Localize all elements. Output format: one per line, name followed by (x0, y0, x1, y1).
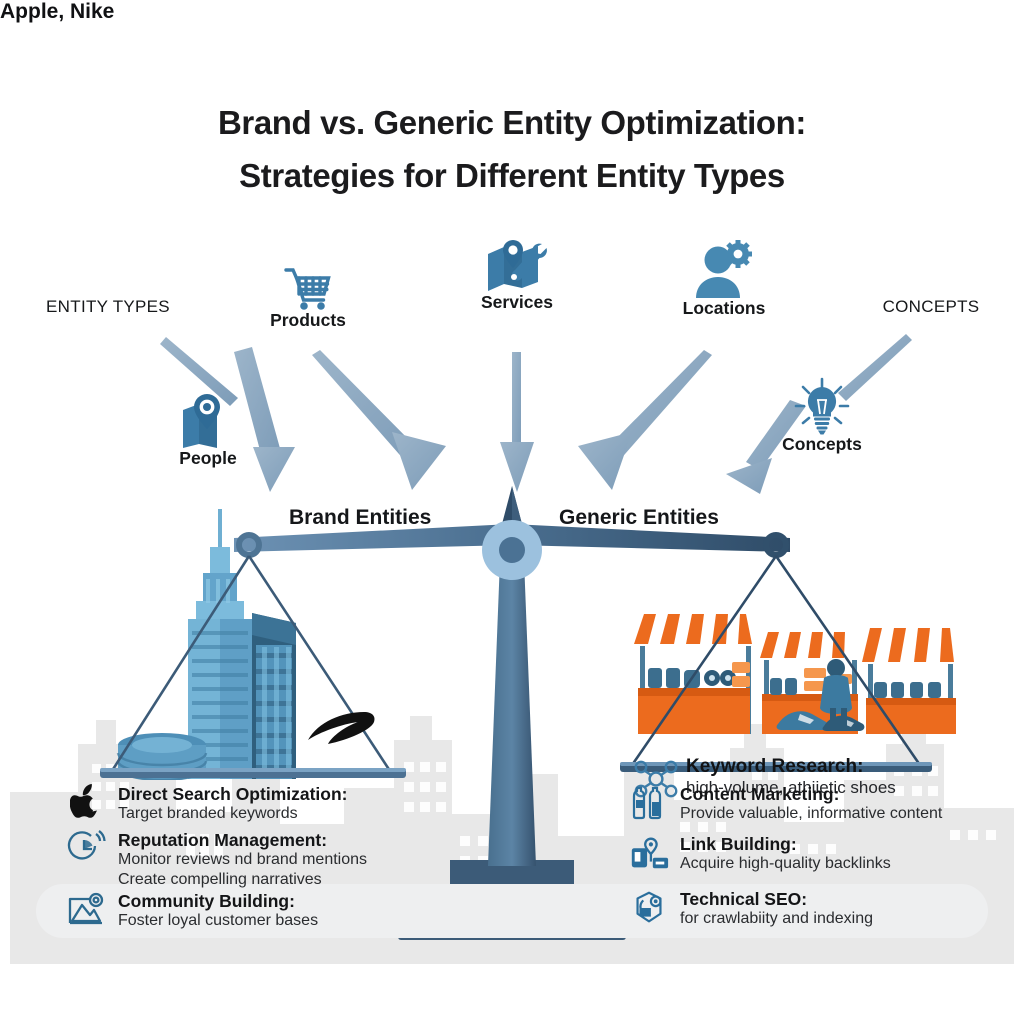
right-pan-strings (630, 556, 922, 768)
left-pan (100, 768, 406, 778)
community-image-icon (66, 890, 108, 930)
brand-entities-label: Brand Entities (289, 506, 431, 530)
strategy-desc: Monitor reviews nd brand mentions (118, 850, 367, 870)
bottles-content-icon (628, 783, 670, 823)
infographic-canvas: Brand vs. Generic Entity Optimization: S… (0, 0, 1024, 1024)
strategy-reputation-management[interactable]: Reputation Management: Monitor reviews n… (66, 829, 367, 890)
reputation-clock-icon (66, 829, 108, 869)
strategy-title: Reputation Management: (118, 830, 367, 850)
strategy-desc-2: Create compelling narratives (118, 870, 367, 890)
link-pin-icon (628, 833, 670, 873)
strategy-desc: Foster loyal customer bases (118, 911, 318, 931)
strategy-title: Direct Search Optimization: (118, 784, 348, 804)
strategy-content-marketing[interactable]: Content Marketing: Provide valuable, inf… (628, 783, 942, 824)
strategy-title: Technical SEO: (680, 889, 873, 909)
strategy-desc: Provide valuable, informative content (680, 804, 942, 824)
strategy-title: Link Building: (680, 834, 891, 854)
strategy-link-building[interactable]: Link Building: Acquire high-quality back… (628, 833, 891, 874)
strategy-technical-seo[interactable]: Technical SEO: for crawlabiity and index… (628, 888, 873, 929)
technical-seo-icon (628, 888, 670, 928)
strategy-direct-search-optimization[interactable]: Direct Search Optimization: Target brand… (66, 783, 348, 824)
apple-logo-icon (66, 783, 108, 823)
strategy-community-building[interactable]: Community Building: Foster loyal custome… (66, 890, 318, 931)
scale-column (488, 560, 536, 866)
scale-pivot (482, 520, 542, 580)
strategy-desc: for crawlabiity and indexing (680, 909, 873, 929)
nike-swoosh-icon (306, 712, 378, 746)
generic-entities-label: Generic Entities (559, 506, 719, 530)
strategy-desc: Acquire high-quality backlinks (680, 854, 891, 874)
strategy-title: Content Marketing: (680, 784, 942, 804)
scale-pointer-highlight (512, 486, 522, 524)
strategy-desc: Target branded keywords (118, 804, 348, 824)
keyword-research-title: Keyword Research: (686, 756, 896, 778)
strategy-title: Community Building: (118, 891, 318, 911)
